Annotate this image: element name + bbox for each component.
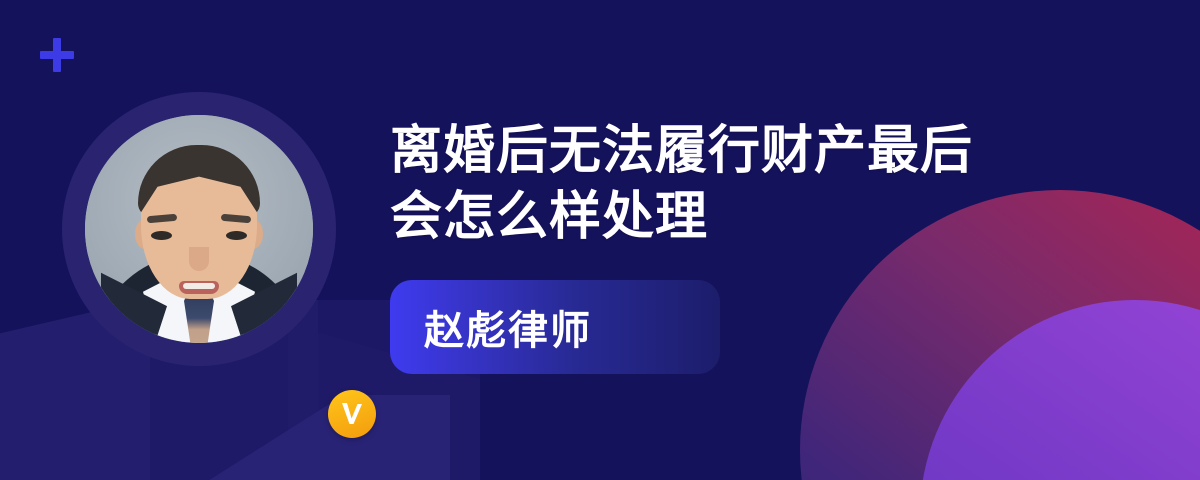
verified-badge-icon: [328, 390, 376, 438]
lawyer-video-banner: 离婚后无法履行财产最后 会怎么样处理 赵彪律师: [0, 0, 1200, 480]
avatar-photo: [85, 115, 313, 343]
avatar: [62, 92, 336, 366]
plus-icon: [40, 38, 74, 72]
page-title: 离婚后无法履行财产最后 会怎么样处理: [390, 118, 1090, 250]
decorative-polygon-left-lower: [170, 395, 450, 480]
content-block: 离婚后无法履行财产最后 会怎么样处理 赵彪律师: [390, 118, 1090, 374]
portrait-illustration: [85, 115, 313, 343]
lawyer-name-button[interactable]: 赵彪律师: [390, 280, 720, 374]
